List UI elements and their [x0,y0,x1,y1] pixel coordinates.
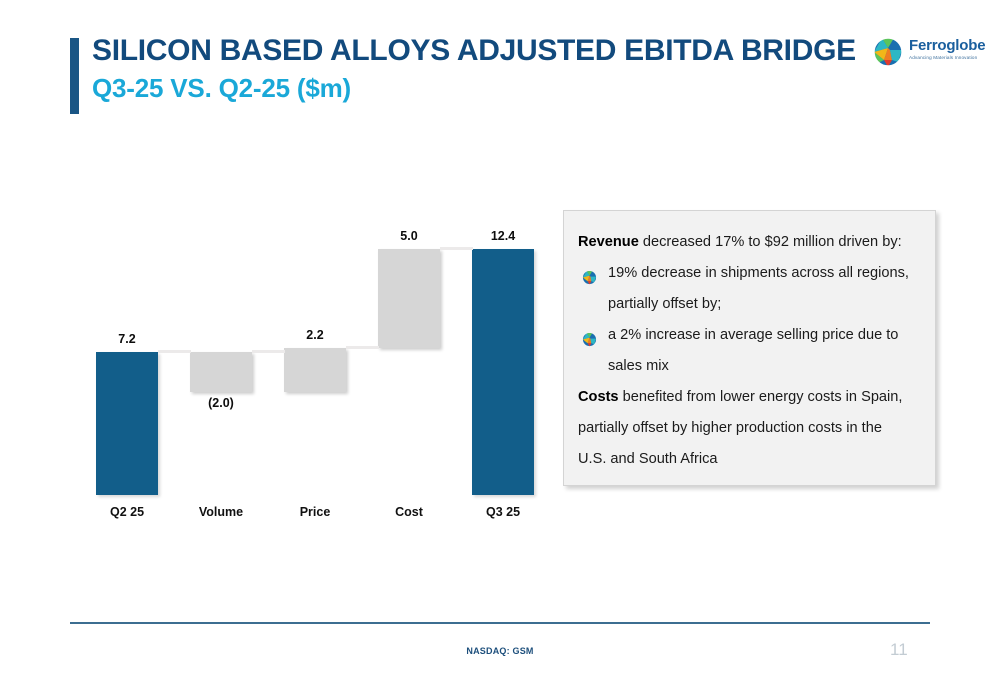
commentary-text: U.S. and South Africa [578,451,718,467]
waterfall-connector [346,346,379,349]
title-main-text: SILICON BASED ALLOYS ADJUSTED EBITDA BRI… [92,32,856,70]
globe-bullet-icon [582,266,597,281]
bar-value-label: 7.2 [76,332,178,346]
bar-value-label: (2.0) [170,396,272,410]
bar-q2-25 [96,352,158,495]
ebitda-waterfall-chart: 7.2Q2 25(2.0)Volume2.2Price5.0Cost12.4Q3… [80,195,550,530]
commentary-line: Revenue decreased 17% to $92 million dri… [578,227,917,258]
commentary-text: partially offset by higher production co… [578,420,882,436]
x-axis-label-volume: Volume [174,505,268,519]
footer-divider [70,622,930,624]
commentary-emphasis: Revenue [578,234,639,250]
ferroglobe-logo: Ferroglobe Advancing Materials Innovatio… [872,34,984,74]
commentary-line: partially offset by; [578,289,917,320]
bar-value-label: 5.0 [358,229,460,243]
commentary-bullet: 19% decrease in shipments across all reg… [578,258,917,289]
bar-value-label: 12.4 [452,229,554,243]
page-title: SILICON BASED ALLOYS ADJUSTED EBITDA BRI… [92,32,856,105]
commentary-emphasis: Costs [578,389,619,405]
logo-company-name: Ferroglobe [909,37,985,54]
commentary-text: sales mix [608,358,669,374]
x-axis-label-price: Price [268,505,362,519]
slide-header: SILICON BASED ALLOYS ADJUSTED EBITDA BRI… [0,0,1000,140]
waterfall-connector [252,350,285,353]
footer-ticker: NASDAQ: GSM [0,646,1000,656]
bar-price [284,348,346,392]
x-axis-label-q2-25: Q2 25 [80,505,174,519]
logo-tagline: Advancing Materials Innovation [909,54,985,61]
commentary-line: Costs benefited from lower energy costs … [578,382,917,413]
x-axis-label-cost: Cost [362,505,456,519]
page-number: 11 [890,640,930,660]
ferroglobe-globe-icon [872,36,904,68]
commentary-text: decreased 17% to $92 million driven by: [639,234,902,250]
commentary-text: benefited from lower energy costs in Spa… [619,389,903,405]
commentary-text: a 2% increase in average selling price d… [608,327,898,343]
chart-plot-area: 7.2Q2 25(2.0)Volume2.2Price5.0Cost12.4Q3… [80,195,550,495]
bar-value-label: 2.2 [264,328,366,342]
globe-bullet-icon [582,328,597,343]
title-subtitle-text: Q3-25 VS. Q2-25 ($m) [92,71,856,105]
bar-q3-25 [472,249,534,495]
title-accent-bar [70,38,79,114]
commentary-bullet: a 2% increase in average selling price d… [578,320,917,351]
commentary-line: partially offset by higher production co… [578,413,917,444]
bar-volume [190,352,252,392]
commentary-text: partially offset by; [608,296,721,312]
commentary-line: U.S. and South Africa [578,444,917,475]
commentary-text: 19% decrease in shipments across all reg… [608,265,909,281]
waterfall-connector [158,350,191,353]
bar-cost [378,249,440,348]
x-axis-label-q3-25: Q3 25 [456,505,550,519]
commentary-line: sales mix [578,351,917,382]
logo-wordmark: Ferroglobe Advancing Materials Innovatio… [909,37,985,61]
waterfall-connector [440,247,473,250]
commentary-box: Revenue decreased 17% to $92 million dri… [563,210,936,486]
commentary-content: Revenue decreased 17% to $92 million dri… [564,211,935,475]
